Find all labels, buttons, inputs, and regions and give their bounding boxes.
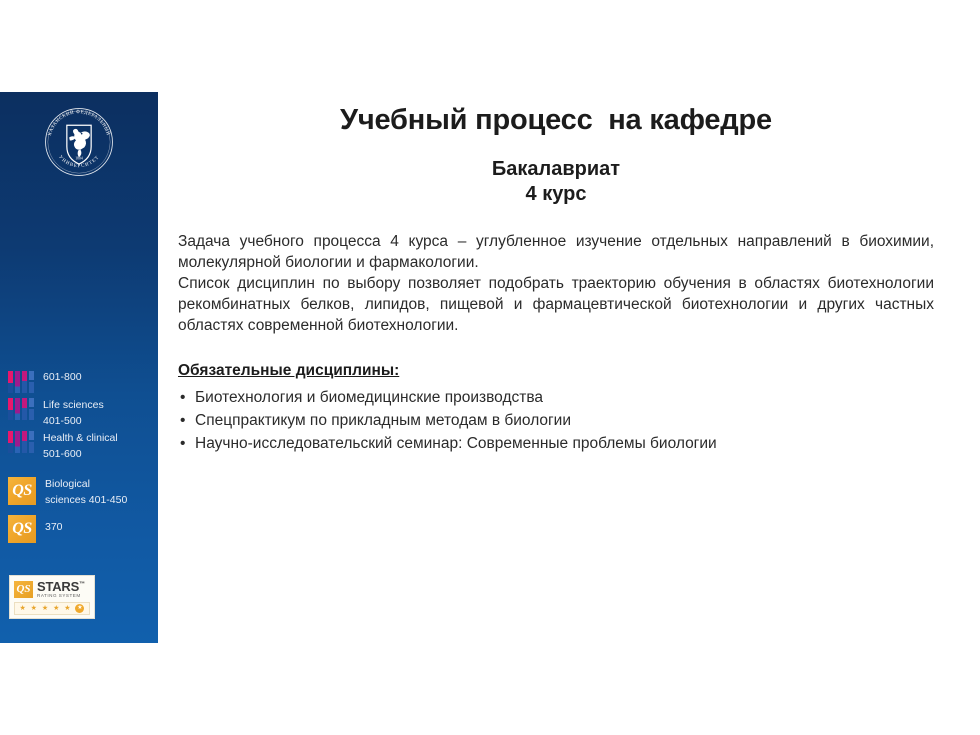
svg-text:1804: 1804 [75,156,83,160]
page-title: Учебный процесс на кафедре [178,104,934,137]
page-subtitle: Бакалавриат 4 курс [178,157,934,207]
star-icon: ★ [31,605,37,612]
qs-logo-icon: QS [8,477,36,505]
list-item-label: Спецпрактикум по прикладным методам в би… [195,412,571,429]
list-item-label: Биотехнология и биомедицинские производс… [195,389,543,406]
ranking-badge-qs-biological-sciences: QS Biological sciences 401-450 [8,476,158,508]
ranking-badge-label: Life sciences 401-500 [43,397,104,429]
sidebar-panel: КАЗАНСКИЙ ФЕДЕРАЛЬНЫЙ УНИВЕРСИТЕТ 1804 [0,92,158,643]
subtitle-line-degree: Бакалавриат [178,157,934,182]
emblem-container: КАЗАНСКИЙ ФЕДЕРАЛЬНЫЙ УНИВЕРСИТЕТ 1804 [0,104,158,180]
star-icon-highlighted: ★ [75,604,84,613]
ranking-badge-qs-overall: QS 370 [8,514,158,543]
star-icon: ★ [53,605,59,612]
slide-canvas: КАЗАНСКИЙ ФЕДЕРАЛЬНЫЙ УНИВЕРСИТЕТ 1804 [0,0,980,735]
list-item-label: Научно-исследовательский семинар: Соврем… [195,435,717,452]
ranking-badge-the-life-sciences: Life sciences 401-500 [8,397,158,429]
list-item: • Научно-исследовательский семинар: Совр… [178,432,934,455]
body-text: Задача учебного процесса 4 курса – углуб… [178,231,934,336]
ranking-badge-the-health-clinical: Health & clinical 501-600 [8,430,158,462]
ranking-badge-label: Biological sciences 401-450 [45,476,127,508]
trademark-glyph: ™ [79,582,85,588]
list-item: • Спецпрактикум по прикладным методам в … [178,409,934,432]
qs-stars-subtitle: RATING SYSTEM [37,594,85,599]
paragraph-goal: Задача учебного процесса 4 курса – углуб… [178,231,934,273]
qs-logo-icon: QS [14,581,33,598]
qs-stars-rating-row: ★ ★ ★ ★ ★ ★ [14,602,90,615]
university-emblem-icon: КАЗАНСКИЙ ФЕДЕРАЛЬНЫЙ УНИВЕРСИТЕТ 1804 [41,104,117,180]
star-icon: ★ [19,605,25,612]
rankings-badge-list: 601-800 Life sciences 401-500 Health & c… [8,370,158,547]
required-courses-list: • Биотехнология и биомедицинские произво… [178,386,934,455]
bullet-glyph: • [180,432,185,455]
qs-stars-badge: QS STARS™ RATING SYSTEM ★ ★ ★ ★ ★ ★ [9,575,95,619]
qs-stars-wordmark: STARS™ RATING SYSTEM [37,580,85,599]
bullet-glyph: • [180,409,185,432]
required-courses-heading: Обязательные дисциплины: [178,362,934,380]
the-logo-icon [8,371,34,393]
ranking-badge-label: Health & clinical 501-600 [43,430,118,462]
the-logo-icon [8,431,34,453]
star-icon: ★ [64,605,70,612]
qs-logo-icon: QS [8,515,36,543]
star-icon: ★ [42,605,48,612]
ranking-badge-label: 370 [45,520,63,535]
subtitle-line-year: 4 курс [178,182,934,207]
qs-stars-title: STARS™ [37,580,85,593]
list-item: • Биотехнология и биомедицинские произво… [178,386,934,409]
main-content: Учебный процесс на кафедре Бакалавриат 4… [178,0,934,455]
ranking-badge-the-overall: 601-800 [8,370,158,393]
the-logo-icon [8,398,34,420]
qs-stars-header: QS STARS™ RATING SYSTEM [14,580,90,599]
bullet-glyph: • [180,386,185,409]
paragraph-electives: Список дисциплин по выбору позволяет под… [178,273,934,336]
ranking-badge-label: 601-800 [43,370,82,385]
